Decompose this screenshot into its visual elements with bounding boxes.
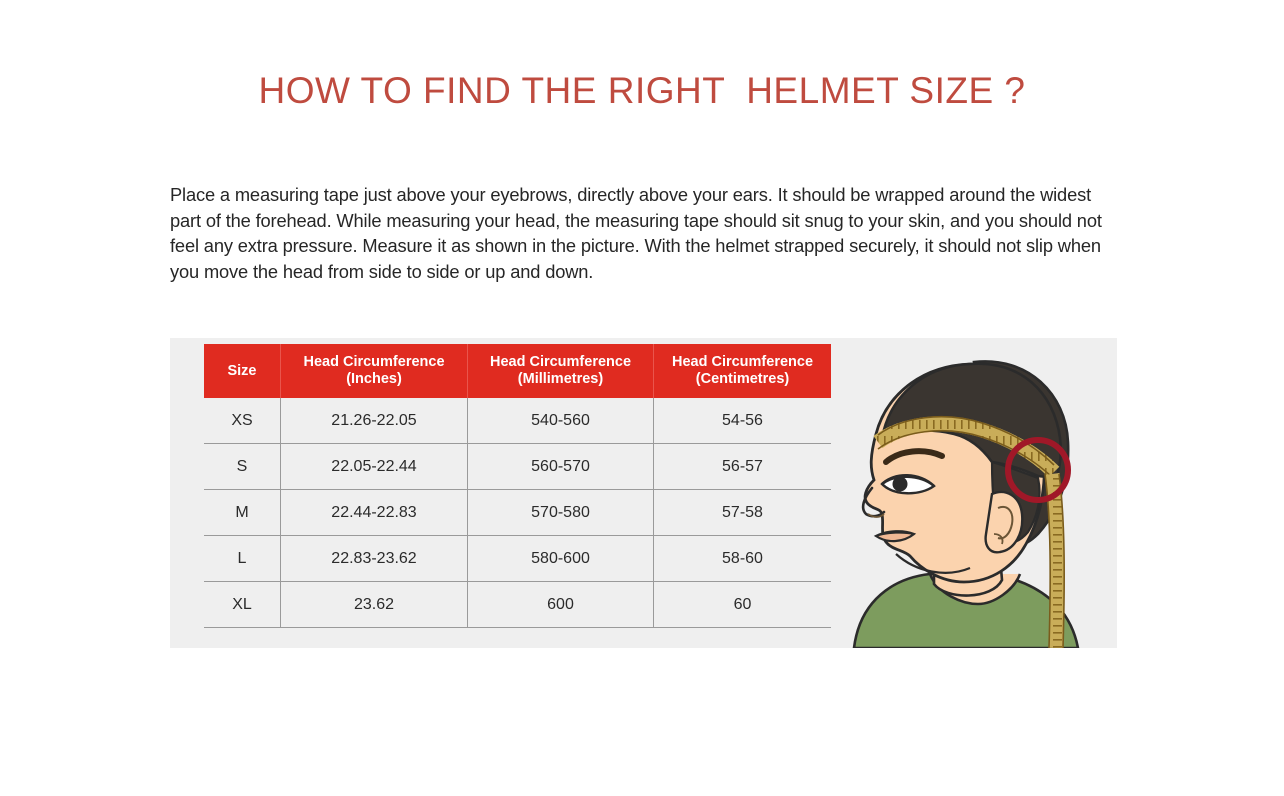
cell-millimetres: 540-560 <box>468 398 654 444</box>
cell-inches: 22.83-23.62 <box>281 536 468 582</box>
column-header-millimetres-line2: (Millimetres) <box>468 371 653 388</box>
page-title: HOW TO FIND THE RIGHT HELMET SIZE ? <box>0 70 1284 112</box>
cell-centimetres: 56-57 <box>654 444 832 490</box>
table-body: XS 21.26-22.05 540-560 54-56 S 22.05-22.… <box>204 398 831 628</box>
cell-size: XL <box>204 582 281 628</box>
cell-size: L <box>204 536 281 582</box>
cell-size: XS <box>204 398 281 444</box>
column-header-size: Size <box>204 344 281 398</box>
column-header-millimetres-line1: Head Circumference <box>468 354 653 371</box>
cell-millimetres: 580-600 <box>468 536 654 582</box>
table-row: M 22.44-22.83 570-580 57-58 <box>204 490 831 536</box>
column-header-centimetres: Head Circumference (Centimetres) <box>654 344 832 398</box>
table-row: XS 21.26-22.05 540-560 54-56 <box>204 398 831 444</box>
size-info-panel: Size Head Circumference (Inches) Head Ci… <box>170 338 1117 648</box>
column-header-centimetres-line1: Head Circumference <box>654 354 831 371</box>
table-row: L 22.83-23.62 580-600 58-60 <box>204 536 831 582</box>
cell-inches: 23.62 <box>281 582 468 628</box>
cell-size: M <box>204 490 281 536</box>
column-header-millimetres: Head Circumference (Millimetres) <box>468 344 654 398</box>
cell-millimetres: 560-570 <box>468 444 654 490</box>
cell-inches: 22.44-22.83 <box>281 490 468 536</box>
cell-centimetres: 60 <box>654 582 832 628</box>
column-header-centimetres-line2: (Centimetres) <box>654 371 831 388</box>
table-row: S 22.05-22.44 560-570 56-57 <box>204 444 831 490</box>
column-header-size-line1: Size <box>204 363 280 380</box>
column-header-inches: Head Circumference (Inches) <box>281 344 468 398</box>
cell-millimetres: 570-580 <box>468 490 654 536</box>
column-header-inches-line1: Head Circumference <box>281 354 467 371</box>
cell-centimetres: 57-58 <box>654 490 832 536</box>
head-measurement-illustration <box>842 338 1117 648</box>
cell-inches: 21.26-22.05 <box>281 398 468 444</box>
cell-centimetres: 58-60 <box>654 536 832 582</box>
table-row: XL 23.62 600 60 <box>204 582 831 628</box>
cell-centimetres: 54-56 <box>654 398 832 444</box>
column-header-inches-line2: (Inches) <box>281 371 467 388</box>
cell-inches: 22.05-22.44 <box>281 444 468 490</box>
intro-paragraph: Place a measuring tape just above your e… <box>170 182 1120 284</box>
cell-size: S <box>204 444 281 490</box>
helmet-size-table: Size Head Circumference (Inches) Head Ci… <box>204 344 831 628</box>
table-header-row: Size Head Circumference (Inches) Head Ci… <box>204 344 831 398</box>
cell-millimetres: 600 <box>468 582 654 628</box>
